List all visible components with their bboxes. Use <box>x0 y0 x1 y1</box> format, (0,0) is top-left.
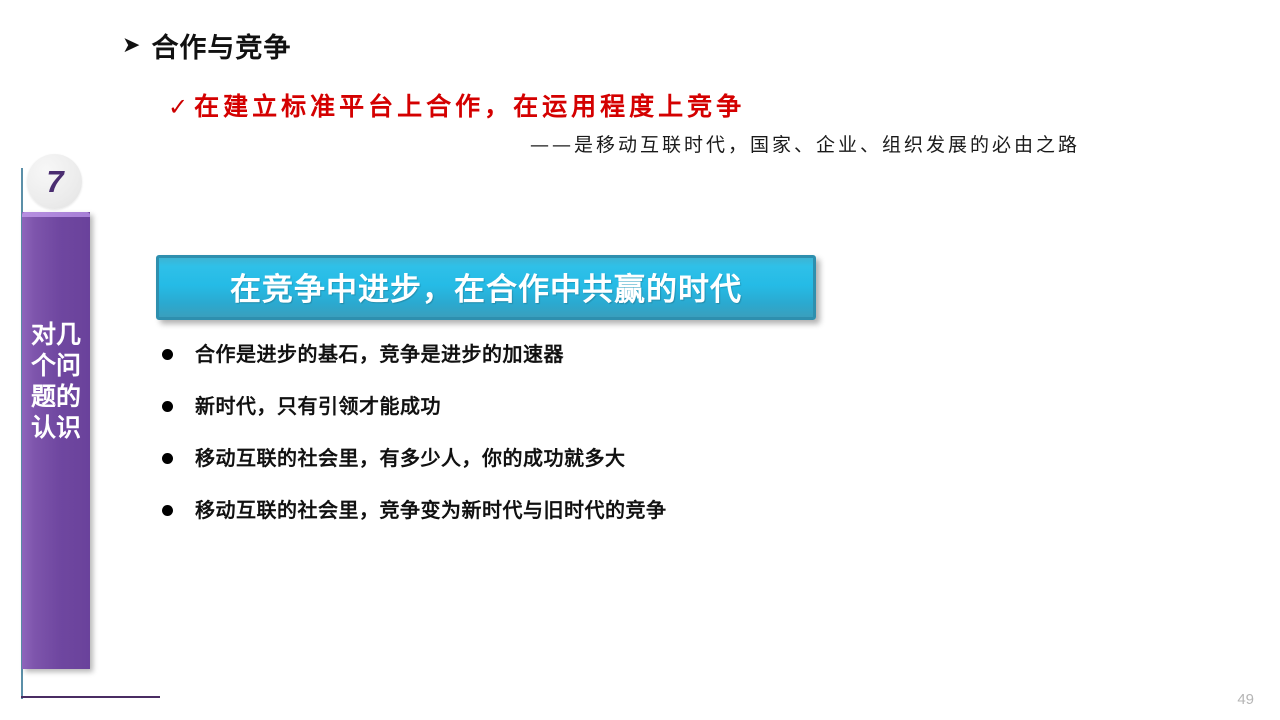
list-item-label: 合作是进步的基石，竞争是进步的加速器 <box>195 342 564 368</box>
highlight-banner-text: 在竞争中进步，在合作中共赢的时代 <box>159 258 813 323</box>
bullet-dot-icon <box>162 505 173 516</box>
section-number-text: 7 <box>27 154 82 209</box>
red-subheading-text: 在建立标准平台上合作，在运用程度上竞争 <box>194 87 745 123</box>
page-title: 合作与竞争 <box>151 26 291 65</box>
bullet-dot-icon <box>162 401 173 412</box>
bullet-dot-icon <box>162 349 173 360</box>
list-item-label: 新时代，只有引领才能成功 <box>195 394 441 420</box>
list-item: 移动互联的社会里，竞争变为新时代与旧时代的竞争 <box>162 498 922 524</box>
section-number-badge: 7 <box>27 154 82 209</box>
bullet-dot-icon <box>162 453 173 464</box>
highlight-banner: 在竞争中进步，在合作中共赢的时代 <box>156 255 816 320</box>
arrow-bullet-icon: ➤ <box>122 35 140 57</box>
check-mark-icon: ✓ <box>168 95 188 119</box>
list-item: 移动互联的社会里，有多少人，你的成功就多大 <box>162 446 922 472</box>
subtitle-text: ——是移动互联时代，国家、企业、组织发展的必由之路 <box>530 130 1080 157</box>
page-number: 49 <box>1237 691 1254 708</box>
list-item: 合作是进步的基石，竞争是进步的加速器 <box>162 342 922 368</box>
list-item: 新时代，只有引领才能成功 <box>162 394 922 420</box>
bullet-list: 合作是进步的基石，竞争是进步的加速器 新时代，只有引领才能成功 移动互联的社会里… <box>162 342 922 550</box>
red-subheading: ✓ 在建立标准平台上合作，在运用程度上竞争 <box>168 87 745 123</box>
slide-heading: ➤ 合作与竞争 <box>122 26 291 65</box>
list-item-label: 移动互联的社会里，有多少人，你的成功就多大 <box>195 446 626 472</box>
list-item-label: 移动互联的社会里，竞争变为新时代与旧时代的竞争 <box>195 498 667 524</box>
sidebar-vertical-label: 对几个问题的认识 <box>22 320 90 444</box>
rail-bottom-line <box>21 696 160 698</box>
sidebar-section-bar: 对几个问题的认识 <box>22 212 90 669</box>
